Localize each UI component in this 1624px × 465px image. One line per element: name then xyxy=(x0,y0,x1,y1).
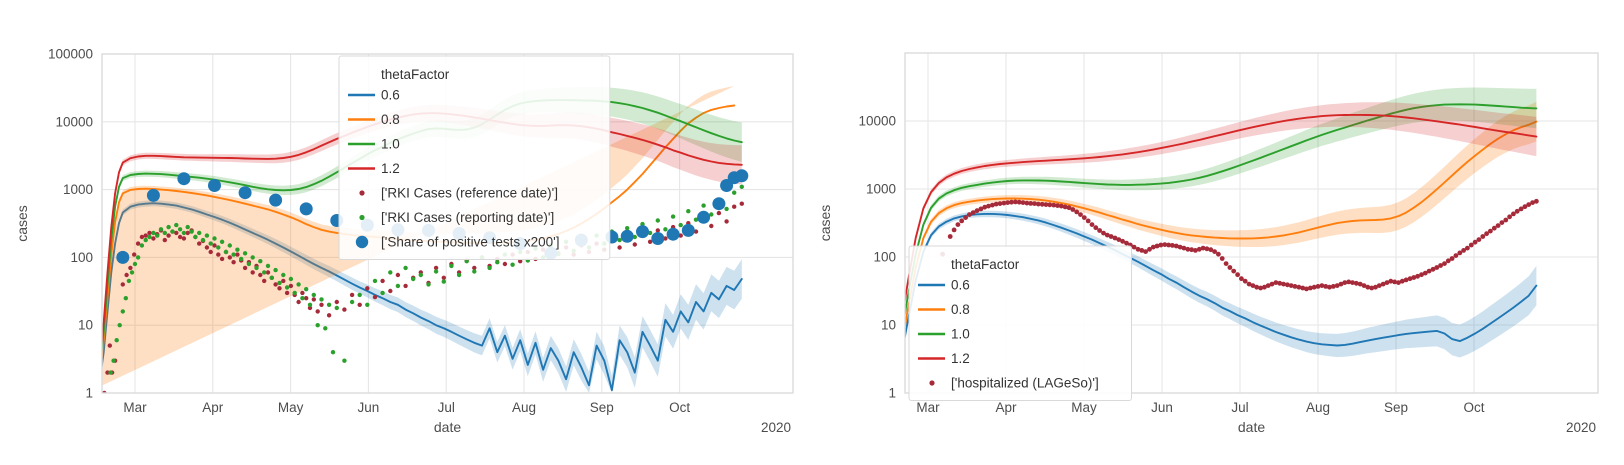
scatter-point xyxy=(956,222,961,227)
legend-background xyxy=(339,56,610,260)
scatter-point xyxy=(111,359,115,363)
scatter-point xyxy=(331,350,335,354)
legend-title: thetaFactor xyxy=(381,67,450,82)
x-tick-label: Jul xyxy=(1231,400,1248,415)
dual-panel-figure: 110100100010000100000casesMarAprMayJunJu… xyxy=(0,0,1624,465)
scatter-point xyxy=(1450,256,1455,261)
scatter-point xyxy=(266,264,270,268)
legend-dot-swatch xyxy=(359,215,364,220)
scatter-point xyxy=(1500,220,1505,225)
scatter-point xyxy=(388,289,392,293)
scatter-point xyxy=(621,230,634,243)
scatter-point xyxy=(136,241,140,245)
scatter-point xyxy=(166,233,170,237)
scatter-point xyxy=(651,232,664,245)
scatter-point xyxy=(350,293,354,297)
x-tick-label: Jul xyxy=(438,400,455,415)
scatter-point xyxy=(277,286,281,290)
scatter-point xyxy=(403,266,407,270)
scatter-point xyxy=(174,223,178,227)
scatter-point xyxy=(319,297,323,301)
scatter-point xyxy=(177,172,190,185)
scatter-point xyxy=(224,250,228,254)
scatter-point xyxy=(419,273,423,277)
scatter-point xyxy=(285,291,289,295)
scatter-point xyxy=(434,269,438,273)
scatter-point xyxy=(327,303,331,307)
scatter-point xyxy=(1220,256,1225,261)
scatter-point xyxy=(186,231,190,235)
scatter-point xyxy=(163,238,167,242)
scatter-point xyxy=(228,243,232,247)
scatter-point xyxy=(656,218,660,222)
scatter-point xyxy=(235,252,239,256)
scatter-point xyxy=(124,273,128,277)
scatter-point xyxy=(239,257,243,261)
scatter-point xyxy=(140,243,144,247)
scatter-point xyxy=(342,359,346,363)
y-tick-label: 10000 xyxy=(55,114,93,129)
scatter-point xyxy=(396,273,400,277)
scatter-point xyxy=(115,338,119,342)
scatter-point xyxy=(617,245,621,249)
scatter-point xyxy=(251,270,255,274)
scatter-point xyxy=(373,279,377,283)
scatter-point xyxy=(656,228,660,232)
scatter-point xyxy=(671,214,675,218)
scatter-point xyxy=(108,343,112,347)
x-tick-label: Jun xyxy=(1151,400,1173,415)
scatter-point xyxy=(1086,219,1091,224)
scatter-point xyxy=(308,303,312,307)
scatter-point xyxy=(170,229,174,233)
scatter-point xyxy=(243,251,247,255)
x-axis-title: date xyxy=(434,419,461,435)
x-tick-label: Mar xyxy=(123,400,147,415)
scatter-point xyxy=(709,224,713,228)
scatter-point xyxy=(228,255,232,259)
scatter-point xyxy=(270,276,274,280)
scatter-point xyxy=(201,238,205,242)
legend-item[interactable]: ['RKI Cases (reporting date)'] xyxy=(359,210,554,225)
scatter-point xyxy=(712,197,725,210)
scatter-point xyxy=(682,224,695,237)
scatter-point xyxy=(686,209,690,213)
scatter-point xyxy=(358,293,362,297)
scatter-point xyxy=(258,273,262,277)
scatter-point xyxy=(442,276,446,280)
y-tick-label: 10 xyxy=(881,318,896,333)
scatter-point xyxy=(130,270,134,274)
x-tick-label: May xyxy=(278,400,304,415)
scatter-point xyxy=(724,207,728,211)
scatter-point xyxy=(667,228,680,241)
scatter-point xyxy=(679,223,683,227)
scatter-point xyxy=(116,251,129,264)
scatter-point xyxy=(254,266,258,270)
legend-bigdot-swatch xyxy=(356,236,368,248)
x-tick-label: Jun xyxy=(358,400,380,415)
scatter-point xyxy=(151,231,155,235)
scatter-point xyxy=(293,291,297,295)
scatter-point xyxy=(281,279,285,283)
y-tick-label: 1000 xyxy=(866,182,896,197)
scatter-point xyxy=(697,211,710,224)
legend[interactable]: thetaFactor0.60.81.01.2['RKI Cases (refe… xyxy=(339,56,610,260)
scatter-point xyxy=(388,270,392,274)
scatter-point xyxy=(1090,222,1095,227)
scatter-point xyxy=(209,250,213,254)
legend-item[interactable]: ['hospitalized (LAGeSo)'] xyxy=(929,376,1098,391)
legend-item-label: 1.2 xyxy=(951,351,970,366)
scatter-point xyxy=(735,169,748,182)
scatter-point xyxy=(155,233,159,237)
legend-item-label: 0.8 xyxy=(381,112,400,127)
scatter-point xyxy=(209,241,213,245)
scatter-point xyxy=(319,303,323,307)
scatter-point xyxy=(342,307,346,311)
scatter-point xyxy=(231,260,235,264)
scatter-point xyxy=(1507,214,1512,219)
scatter-point xyxy=(380,279,384,283)
legend-item-label: ['RKI Cases (reporting date)'] xyxy=(381,210,554,225)
legend-item-label: 1.0 xyxy=(381,137,400,152)
scatter-point xyxy=(1243,279,1248,284)
scatter-point xyxy=(663,227,667,231)
scatter-point xyxy=(262,279,266,283)
scatter-point xyxy=(373,295,377,299)
scatter-point xyxy=(732,205,736,209)
scatter-point xyxy=(197,241,201,245)
y-tick-label: 100 xyxy=(873,250,896,265)
x-tick-label: Sep xyxy=(590,400,614,415)
legend[interactable]: thetaFactor0.60.81.01.2['hospitalized (L… xyxy=(909,246,1132,401)
scatter-point xyxy=(335,306,339,310)
scatter-point xyxy=(251,255,255,259)
scatter-point xyxy=(403,284,407,288)
scatter-point xyxy=(140,235,144,239)
scatter-point xyxy=(118,323,122,327)
scatter-point xyxy=(273,282,277,286)
scatter-point xyxy=(127,279,131,283)
legend-item[interactable]: ['Share of positive tests x200'] xyxy=(356,235,560,250)
scatter-point xyxy=(959,219,964,224)
scatter-point xyxy=(205,245,209,249)
scatter-point xyxy=(300,296,304,300)
scatter-point xyxy=(296,300,300,304)
y-tick-label: 10000 xyxy=(858,114,896,129)
scatter-point xyxy=(300,291,304,295)
scatter-point xyxy=(289,284,293,288)
scatter-point xyxy=(285,285,289,289)
scatter-point xyxy=(216,252,220,256)
y-tick-label: 1 xyxy=(888,386,896,401)
scatter-point xyxy=(411,277,415,281)
scatter-point xyxy=(128,266,132,270)
x-tick-label: Apr xyxy=(995,400,1017,415)
scatter-point xyxy=(133,262,137,266)
scatter-point xyxy=(503,262,507,266)
scatter-point xyxy=(144,233,148,237)
x-axis-year-label: 2020 xyxy=(761,420,791,435)
scatter-point xyxy=(426,282,430,286)
scatter-point xyxy=(316,323,320,327)
scatter-point xyxy=(174,231,178,235)
scatter-point xyxy=(300,202,313,215)
scatter-point xyxy=(144,238,148,242)
x-tick-label: Oct xyxy=(1463,400,1484,415)
scatter-point xyxy=(1082,215,1087,220)
chart-panel-right: 110100100010000casesMarAprMayJunJulAugSe… xyxy=(812,0,1624,465)
scatter-point xyxy=(189,229,193,233)
right-panel-svg: 110100100010000casesMarAprMayJunJulAugSe… xyxy=(812,0,1624,465)
y-tick-label: 1000 xyxy=(63,182,93,197)
scatter-point xyxy=(396,284,400,288)
scatter-point xyxy=(1454,253,1459,258)
scatter-point xyxy=(487,266,491,270)
scatter-point xyxy=(136,255,140,259)
scatter-point xyxy=(625,226,629,230)
scatter-point xyxy=(243,266,247,270)
scatter-point xyxy=(510,263,514,267)
x-tick-label: Oct xyxy=(669,400,690,415)
x-axis-title: date xyxy=(1238,419,1265,435)
scatter-point xyxy=(124,296,128,300)
legend-dot-swatch xyxy=(929,380,934,385)
scatter-point xyxy=(296,282,300,286)
scatter-point xyxy=(266,270,270,274)
scatter-point xyxy=(231,252,235,256)
scatter-point xyxy=(380,291,384,295)
scatter-point xyxy=(220,240,224,244)
scatter-point xyxy=(1488,229,1493,234)
scatter-point xyxy=(304,287,308,291)
scatter-point xyxy=(701,203,705,207)
scatter-point xyxy=(1097,228,1102,233)
scatter-point xyxy=(1224,261,1229,266)
scatter-point xyxy=(277,281,281,285)
scatter-point xyxy=(258,259,262,263)
legend-item-label: 1.2 xyxy=(381,161,400,176)
scatter-point xyxy=(239,186,252,199)
scatter-point xyxy=(1477,237,1482,242)
y-tick-label: 100000 xyxy=(48,47,93,62)
scatter-point xyxy=(740,185,744,189)
y-tick-label: 100 xyxy=(70,250,93,265)
scatter-point xyxy=(365,286,369,290)
y-tick-label: 1 xyxy=(85,386,93,401)
scatter-point xyxy=(1235,272,1240,277)
scatter-point xyxy=(147,189,160,202)
scatter-point xyxy=(151,236,155,240)
y-axis-title: cases xyxy=(817,205,833,242)
legend-title: thetaFactor xyxy=(951,257,1020,272)
x-tick-label: Aug xyxy=(512,400,536,415)
scatter-point xyxy=(1078,212,1083,217)
y-axis-title: cases xyxy=(14,205,30,242)
scatter-point xyxy=(495,260,499,264)
scatter-point xyxy=(732,191,736,195)
scatter-point xyxy=(159,227,163,231)
scatter-point xyxy=(1228,265,1233,270)
scatter-point xyxy=(365,303,369,307)
scatter-point xyxy=(205,233,209,237)
scatter-point xyxy=(350,300,354,304)
scatter-point xyxy=(212,236,216,240)
scatter-point xyxy=(1534,199,1539,204)
scatter-point xyxy=(163,231,167,235)
legend-item-label: ['hospitalized (LAGeSo)'] xyxy=(951,376,1099,391)
scatter-point xyxy=(358,303,362,307)
scatter-point xyxy=(132,252,136,256)
legend-dot-swatch xyxy=(359,190,364,195)
legend-item-label: ['RKI Cases (reference date)'] xyxy=(381,186,558,201)
scatter-point xyxy=(212,243,216,247)
scatter-point xyxy=(633,242,637,246)
scatter-point xyxy=(182,231,186,235)
scatter-point xyxy=(457,273,461,277)
scatter-point xyxy=(147,231,151,235)
left-panel-svg: 110100100010000100000casesMarAprMayJunJu… xyxy=(0,0,812,465)
scatter-point xyxy=(1496,223,1501,228)
scatter-point xyxy=(273,268,277,272)
x-tick-label: Sep xyxy=(1384,400,1408,415)
scatter-point xyxy=(335,300,339,304)
legend-item-label: 1.0 xyxy=(951,327,970,342)
scatter-point xyxy=(442,279,446,283)
scatter-point xyxy=(108,370,112,374)
y-tick-label: 10 xyxy=(78,318,93,333)
scatter-point xyxy=(472,269,476,273)
scatter-point xyxy=(312,297,316,301)
scatter-point xyxy=(316,309,320,313)
scatter-point xyxy=(186,225,190,229)
scatter-point xyxy=(216,245,220,249)
scatter-point xyxy=(327,313,331,317)
scatter-point xyxy=(1231,269,1236,274)
scatter-point xyxy=(1216,252,1221,257)
scatter-point xyxy=(220,257,224,261)
scatter-point xyxy=(724,219,728,223)
scatter-point xyxy=(178,235,182,239)
scatter-point xyxy=(247,262,251,266)
legend-item-label: 0.6 xyxy=(381,88,400,103)
scatter-point xyxy=(262,270,266,274)
x-tick-label: Mar xyxy=(916,400,940,415)
legend-item-label: 0.8 xyxy=(951,302,970,317)
legend-item-label: ['Share of positive tests x200'] xyxy=(381,235,560,250)
legend-item[interactable]: ['RKI Cases (reference date)'] xyxy=(359,186,558,201)
scatter-point xyxy=(1503,218,1508,223)
scatter-point xyxy=(269,194,282,207)
chart-panel-left: 110100100010000100000casesMarAprMayJunJu… xyxy=(0,0,812,465)
scatter-point xyxy=(963,215,968,220)
scatter-point xyxy=(717,211,721,215)
scatter-point xyxy=(235,248,239,252)
scatter-point xyxy=(740,202,744,206)
scatter-point xyxy=(1465,246,1470,251)
scatter-point xyxy=(952,228,957,233)
scatter-point xyxy=(178,227,182,231)
scatter-point xyxy=(197,231,201,235)
scatter-point xyxy=(208,179,221,192)
scatter-point xyxy=(121,282,125,286)
scatter-point xyxy=(121,309,125,313)
scatter-point xyxy=(312,293,316,297)
scatter-point xyxy=(948,234,953,239)
x-axis-year-label: 2020 xyxy=(1566,420,1596,435)
scatter-point xyxy=(182,236,186,240)
scatter-point xyxy=(304,296,308,300)
x-tick-label: Apr xyxy=(202,400,224,415)
scatter-point xyxy=(449,264,453,268)
scatter-point xyxy=(147,235,151,239)
scatter-point xyxy=(166,225,170,229)
x-tick-label: May xyxy=(1071,400,1097,415)
scatter-point xyxy=(193,235,197,239)
x-tick-label: Aug xyxy=(1306,400,1330,415)
legend-item-label: 0.6 xyxy=(951,278,970,293)
scatter-point xyxy=(289,277,293,281)
scatter-point xyxy=(323,326,327,330)
scatter-point xyxy=(636,225,649,238)
scatter-point xyxy=(281,273,285,277)
